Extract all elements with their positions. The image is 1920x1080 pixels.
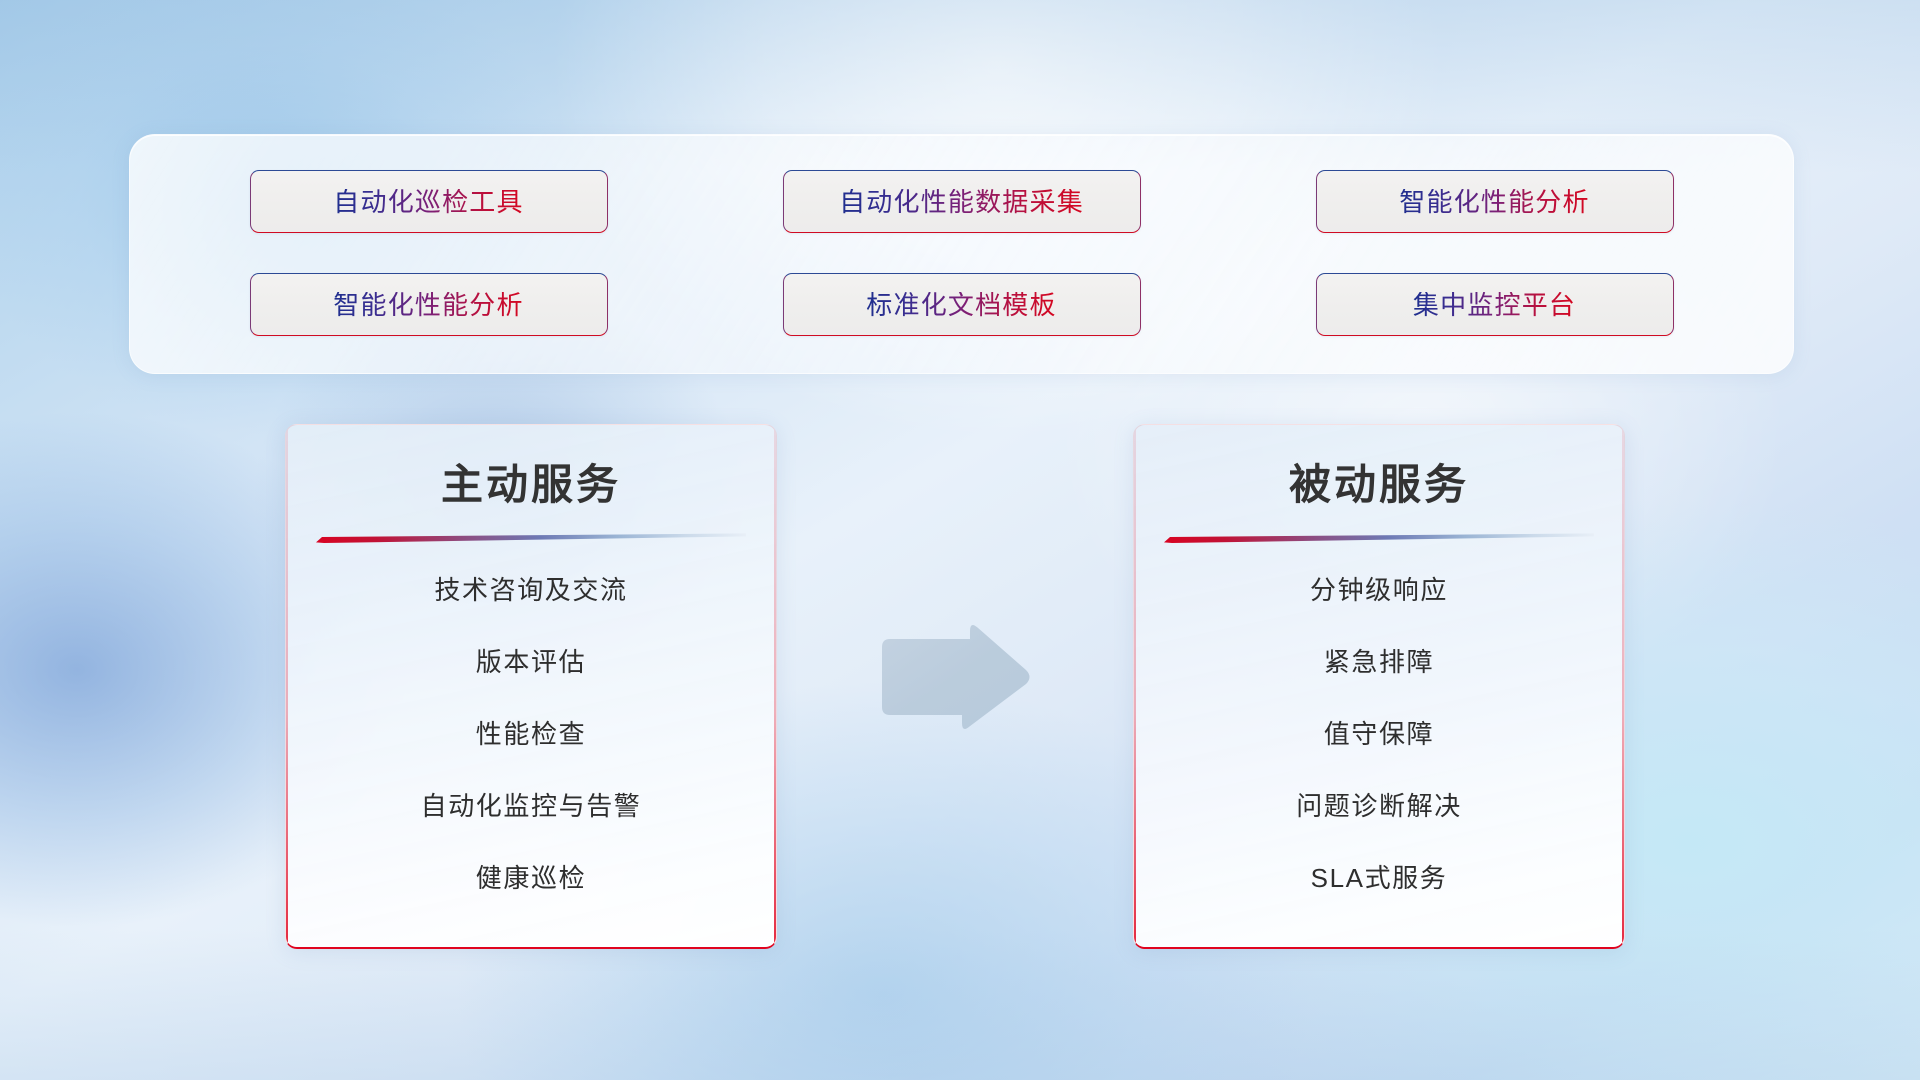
diagram-canvas: 自动化巡检工具 自动化性能数据采集 智能化性能分析 智能化性能分析 标准化文档模… [0,0,1920,1080]
service-list-item: 健康巡检 [286,865,776,891]
service-list-item: 值守保障 [1134,721,1624,747]
service-card-title: 被动服务 [1134,461,1624,508]
service-list-item: 技术咨询及交流 [286,577,776,603]
capability-chip-label: 标准化文档模板 [866,292,1056,318]
service-list-item: 紧急排障 [1134,649,1624,675]
service-card-active: 主动服务 技术咨询及交流 版本评估 [285,424,777,949]
capability-chip-automated-inspection-tool[interactable]: 自动化巡检工具 [250,170,608,233]
capability-chip-label: 智能化性能分析 [1399,189,1589,215]
service-list-active: 技术咨询及交流 版本评估 性能检查 自动化监控与告警 健康巡检 [286,577,776,891]
service-list-item: 版本评估 [286,649,776,675]
service-card-title: 主动服务 [286,461,776,508]
service-list-item: 问题诊断解决 [1134,793,1624,819]
service-list-item: 自动化监控与告警 [286,793,776,819]
capability-chip-centralized-monitoring-platform[interactable]: 集中监控平台 [1316,273,1674,336]
card-divider-passive [1164,533,1594,543]
capability-chip-automated-performance-data-collection[interactable]: 自动化性能数据采集 [783,170,1141,233]
capability-chip-label: 集中监控平台 [1413,292,1576,318]
service-list-item: 分钟级响应 [1134,577,1624,603]
capability-panel: 自动化巡检工具 自动化性能数据采集 智能化性能分析 智能化性能分析 标准化文档模… [129,134,1794,374]
capability-chip-intelligent-performance-analysis-2[interactable]: 智能化性能分析 [250,273,608,336]
capability-chip-standardized-document-template[interactable]: 标准化文档模板 [783,273,1141,336]
service-list-item: 性能检查 [286,721,776,747]
card-divider-active [316,533,746,543]
service-list-item: SLA式服务 [1134,865,1624,891]
capability-chip-label: 自动化巡检工具 [333,189,523,215]
right-arrow-icon [874,618,1032,736]
capability-chip-intelligent-performance-analysis-1[interactable]: 智能化性能分析 [1316,170,1674,233]
service-list-passive: 分钟级响应 紧急排障 值守保障 问题诊断解决 SLA式服务 [1134,577,1624,891]
capability-chip-label: 智能化性能分析 [333,292,523,318]
capability-chip-grid: 自动化巡检工具 自动化性能数据采集 智能化性能分析 智能化性能分析 标准化文档模… [130,135,1793,373]
service-card-passive: 被动服务 分钟级响应 紧急排障 [1133,424,1625,949]
capability-chip-label: 自动化性能数据采集 [839,189,1084,215]
